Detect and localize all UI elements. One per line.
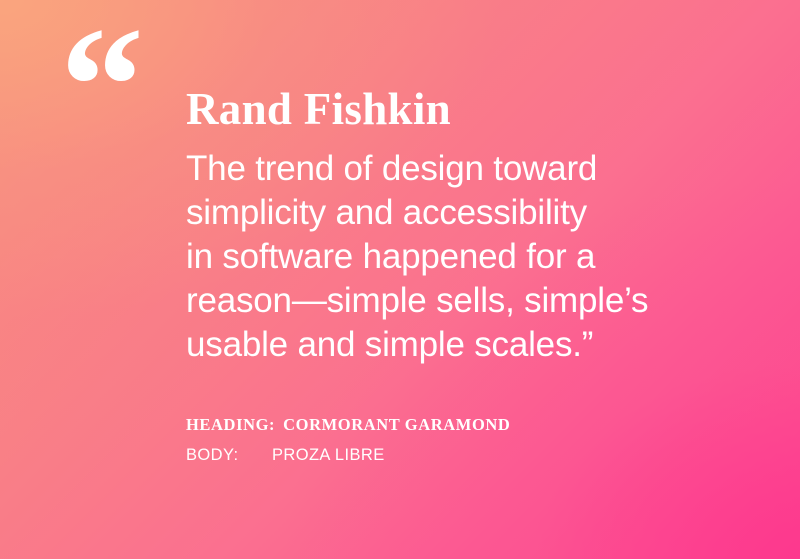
credit-row-heading: HEADING: CORMORANT GARAMOND bbox=[186, 414, 510, 436]
credit-label-body: BODY: bbox=[186, 444, 264, 466]
font-credits: HEADING: CORMORANT GARAMOND BODY: PROZA … bbox=[186, 414, 510, 466]
quote-text-block: Rand Fishkin The trend of design toward … bbox=[186, 86, 766, 367]
credit-label-heading: HEADING: bbox=[186, 414, 275, 436]
credit-value-heading-font: CORMORANT GARAMOND bbox=[283, 414, 510, 436]
quote-body-text: The trend of design toward simplicity an… bbox=[186, 147, 766, 367]
author-name: Rand Fishkin bbox=[186, 86, 766, 133]
open-quote-icon: “ bbox=[60, 2, 142, 170]
credit-row-body: BODY: PROZA LIBRE bbox=[186, 444, 510, 466]
quote-card: “ Rand Fishkin The trend of design towar… bbox=[0, 0, 800, 559]
credit-value-body-font: PROZA LIBRE bbox=[272, 444, 385, 466]
card-content: “ Rand Fishkin The trend of design towar… bbox=[0, 0, 800, 559]
